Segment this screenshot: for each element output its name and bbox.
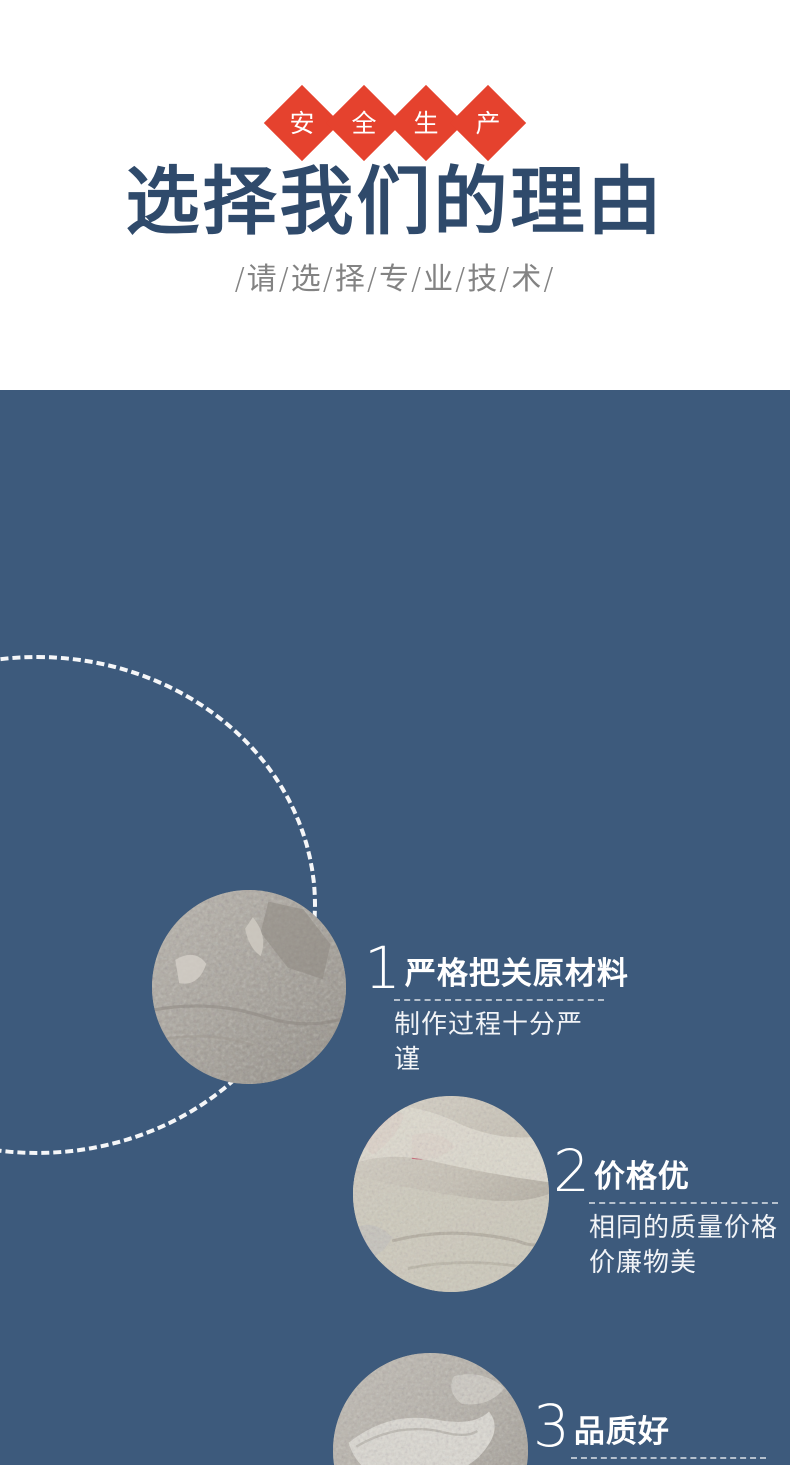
promotional-page: 安 全 生 产 选择我们的理由 /请/选/择/专/业/技/术/ (0, 0, 790, 1465)
diamond-badge-1-label: 安 (289, 111, 314, 136)
feature-1-title: 严格把关原材料 (405, 956, 629, 994)
features-section: 1 严格把关原材料 制作过程十分严谨 2 价格优 相同的质量价格 价廉物美 3 … (0, 390, 790, 1465)
feature-2-head: 2 价格优 (553, 1145, 778, 1197)
feature-2-title: 价格优 (594, 1159, 690, 1197)
feature-1-number: 1 (364, 942, 399, 994)
feature-1-divider (394, 999, 604, 1001)
feature-1-head: 1 严格把关原材料 (364, 942, 604, 994)
feature-3-head: 3 品质好 (533, 1400, 766, 1452)
feature-image-2 (353, 1096, 549, 1292)
feature-3-title: 品质好 (574, 1414, 670, 1452)
feature-2-description: 相同的质量价格 价廉物美 (553, 1211, 778, 1281)
feature-image-1 (152, 890, 346, 1084)
page-header: 安 全 生 产 选择我们的理由 /请/选/择/专/业/技/术/ (0, 0, 790, 390)
white-fibrous-sheet-texture-icon (333, 1353, 528, 1465)
diamond-badge-4: 产 (451, 86, 525, 160)
feature-1-description: 制作过程十分严谨 (364, 1008, 604, 1078)
diamond-badge-2-label: 全 (351, 111, 376, 136)
page-title: 选择我们的理由 (0, 160, 790, 244)
grey-fiber-board-texture-icon (152, 890, 346, 1084)
feature-2-divider (589, 1202, 778, 1204)
page-subtitle: /请/选/择/专/业/技/术/ (0, 258, 790, 302)
feature-block-1: 1 严格把关原材料 制作过程十分严谨 (364, 942, 604, 1078)
feature-block-2: 2 价格优 相同的质量价格 价廉物美 (553, 1145, 778, 1281)
diamond-badge-3-label: 生 (413, 111, 438, 136)
safety-badge-row: 安 全 生 产 (0, 86, 790, 160)
feature-3-divider (571, 1457, 766, 1459)
feature-image-3 (333, 1353, 528, 1465)
feature-block-3: 3 品质好 精细加工，正规 生产，层层保障 (533, 1400, 766, 1465)
diamond-badge-4-label: 产 (475, 111, 500, 136)
torn-insulation-layers-closeup-icon (353, 1096, 549, 1292)
feature-2-number: 2 (553, 1145, 588, 1197)
feature-3-number: 3 (533, 1400, 568, 1452)
